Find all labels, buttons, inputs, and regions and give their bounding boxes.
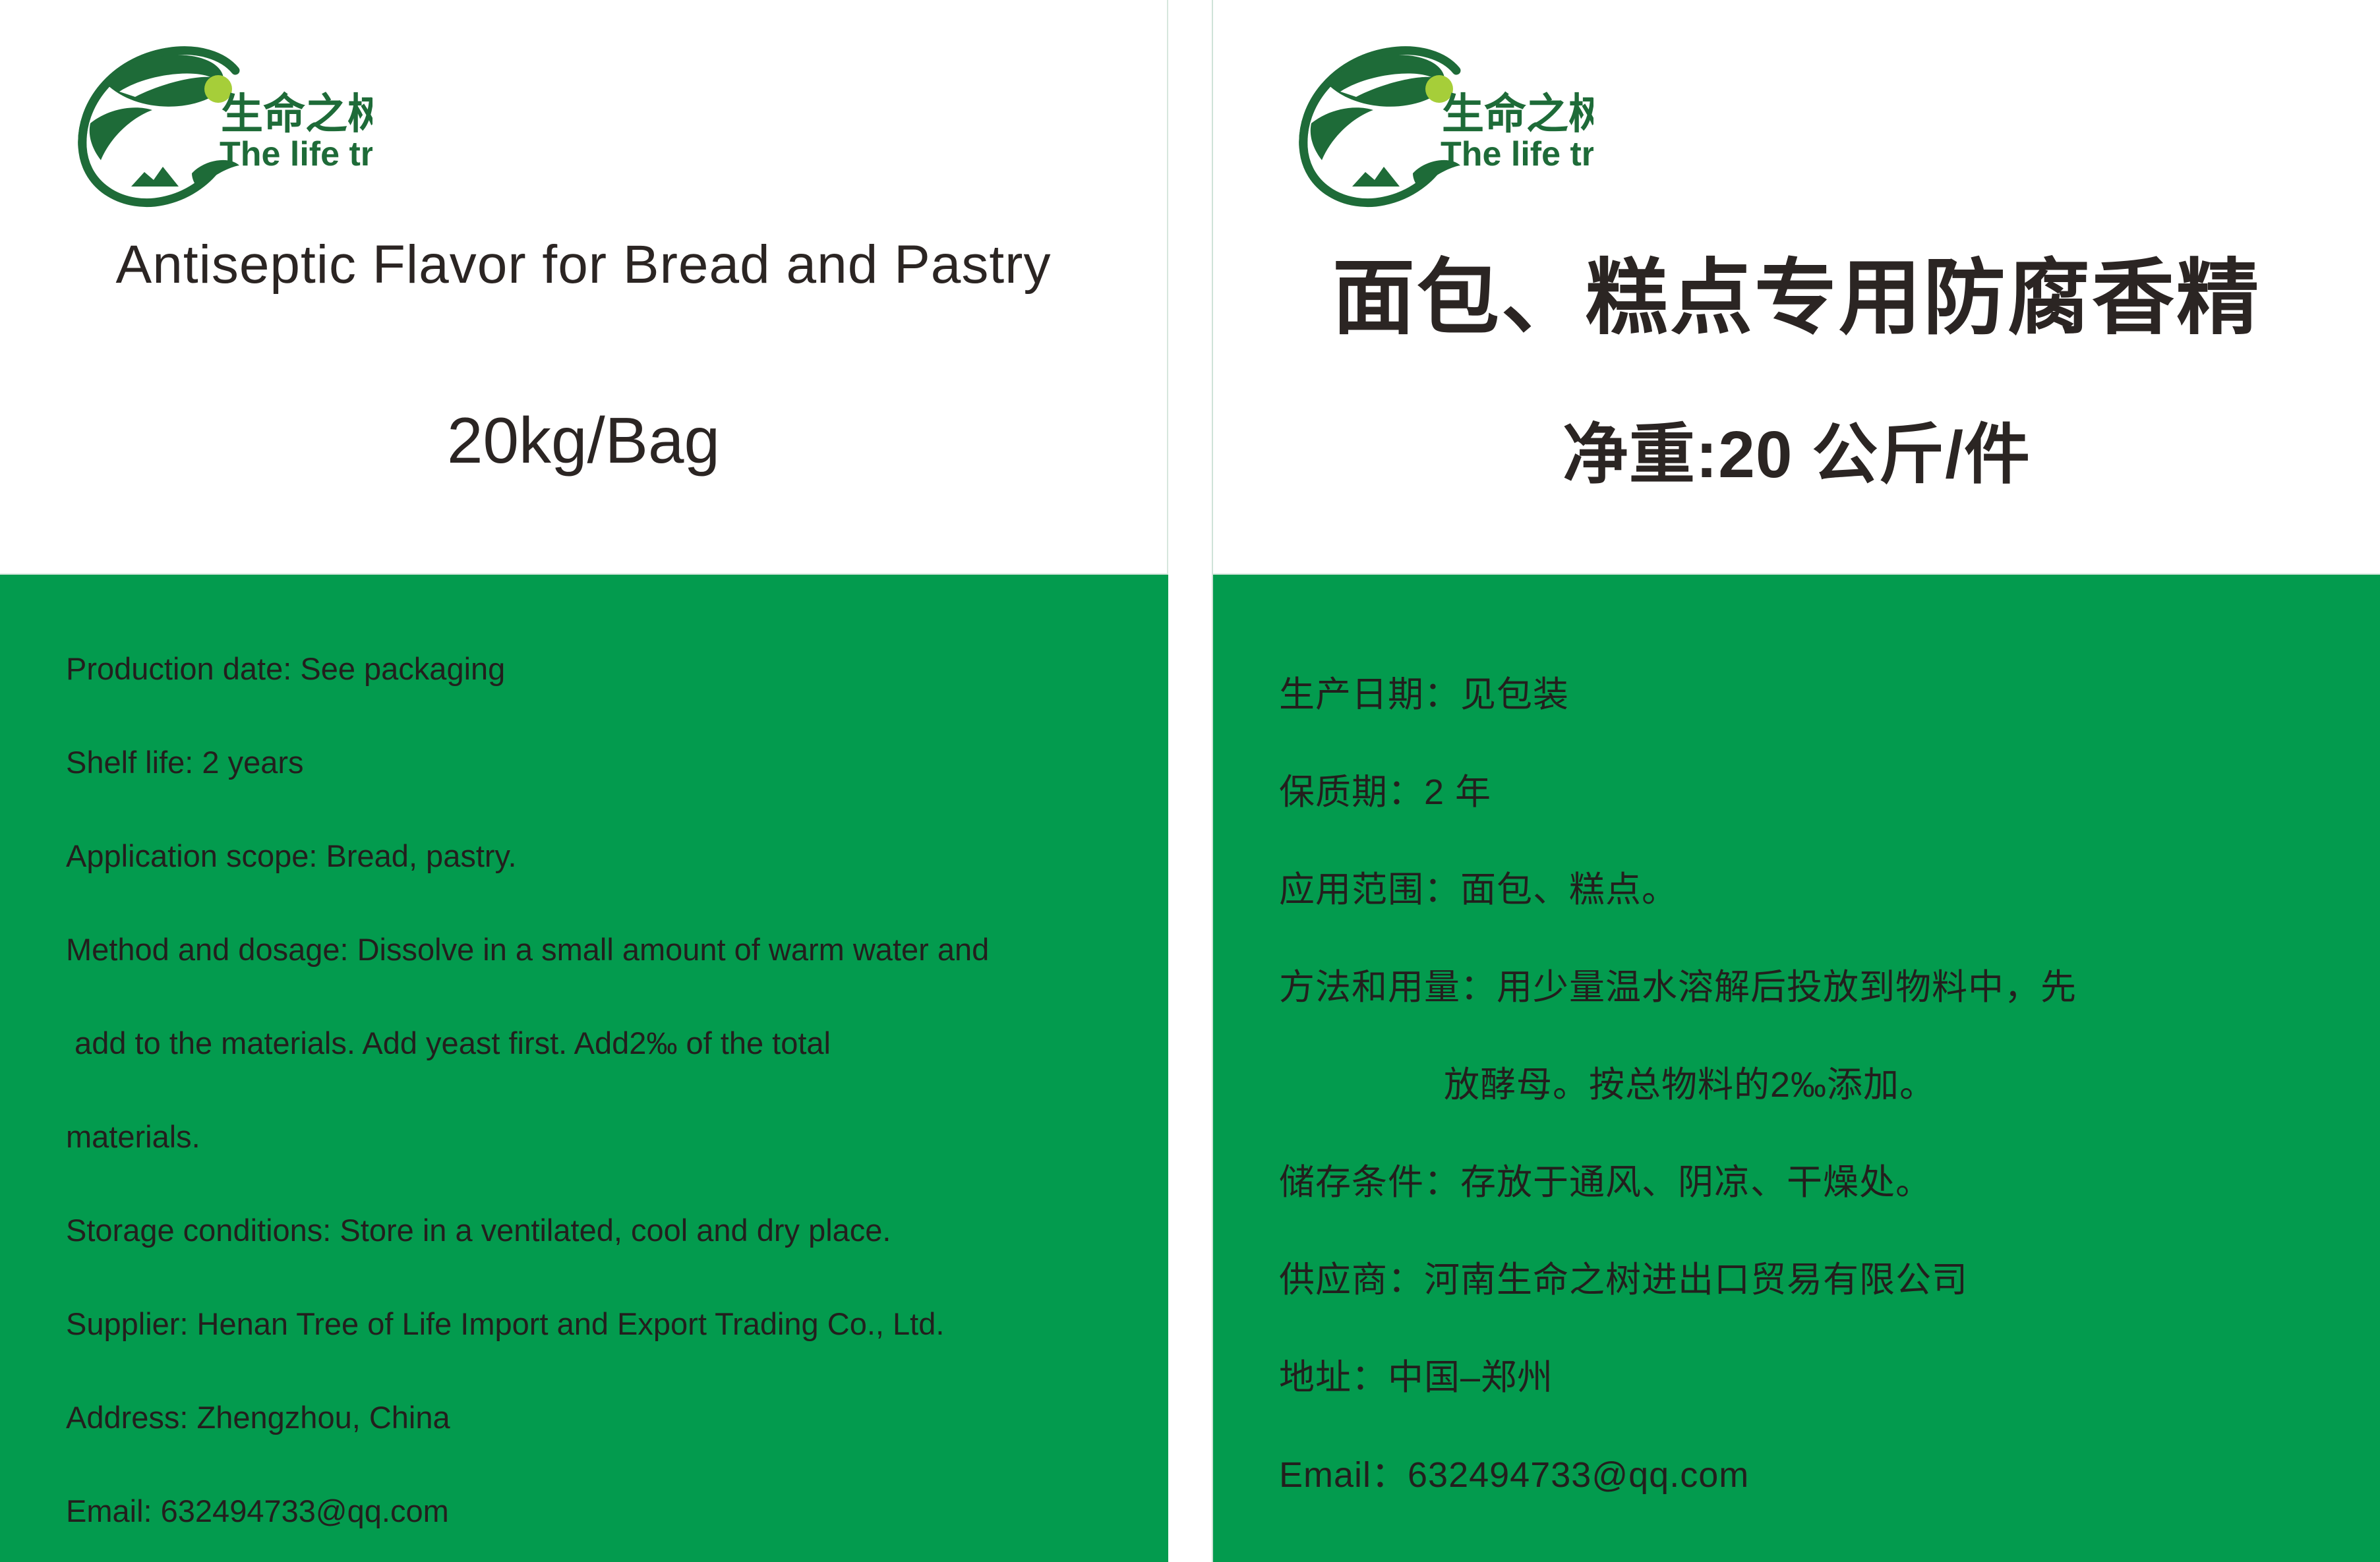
- info-line: Storage conditions: Store in a ventilate…: [66, 1184, 1142, 1277]
- english-product-title: Antiseptic Flavor for Bread and Pastry: [0, 234, 1167, 296]
- info-line: Email：632494733@qq.com: [1279, 1426, 2354, 1524]
- logo-cn-text: 生命之树: [1442, 90, 1593, 139]
- product-label-sheet: 生命之树 The life tree Antiseptic Flavor for…: [0, 0, 2380, 1562]
- info-line: Supplier: Henan Tree of Life Import and …: [66, 1277, 1142, 1371]
- english-header-section: 生命之树 The life tree Antiseptic Flavor for…: [0, 0, 1168, 575]
- info-line: 储存条件：存放于通风、阴凉、干燥处。: [1279, 1134, 2354, 1231]
- info-line: 生产日期：见包装: [1279, 646, 2354, 743]
- info-line: Method and dosage: Dissolve in a small a…: [66, 903, 1142, 997]
- brand-logo: 生命之树 The life tree: [63, 36, 372, 208]
- info-line: Email: 632494733@qq.com: [66, 1464, 1142, 1558]
- chinese-net-weight: 净重:20 公斤/件: [1213, 401, 2380, 496]
- info-line: 供应商：河南生命之树进出口贸易有限公司: [1279, 1231, 2354, 1329]
- logo-en-text: The life tree: [220, 135, 372, 173]
- logo-cn-text: 生命之树: [221, 90, 372, 139]
- logo-en-text: The life tree: [1441, 135, 1593, 173]
- info-line: add to the materials. Add yeast first. A…: [66, 997, 1142, 1090]
- chinese-header-section: 生命之树 The life tree 面包、糕点专用防腐香精 净重:20 公斤/…: [1213, 0, 2380, 575]
- tree-logo-icon: 生命之树 The life tree: [1284, 36, 1593, 208]
- brand-logo: 生命之树 The life tree: [1284, 36, 1593, 208]
- tree-logo-icon: 生命之树 The life tree: [63, 36, 372, 208]
- info-line: 应用范围：面包、糕点。: [1279, 841, 2354, 939]
- chinese-info-section: 生产日期：见包装 保质期：2 年 应用范围：面包、糕点。 方法和用量：用少量温水…: [1213, 575, 2380, 1562]
- info-line: Production date: See packaging: [66, 622, 1142, 716]
- english-label-panel: 生命之树 The life tree Antiseptic Flavor for…: [0, 0, 1168, 1562]
- info-line: Application scope: Bread, pastry.: [66, 809, 1142, 903]
- chinese-product-title: 面包、糕点专用防腐香精: [1213, 231, 2380, 350]
- english-net-weight: 20kg/Bag: [0, 403, 1167, 478]
- info-line: materials.: [66, 1090, 1142, 1184]
- info-line: 方法和用量：用少量温水溶解后投放到物料中，先: [1279, 939, 2354, 1036]
- info-line: Shelf life: 2 years: [66, 716, 1142, 809]
- english-info-section: Production date: See packaging Shelf lif…: [0, 575, 1168, 1562]
- info-line: 保质期：2 年: [1279, 743, 2354, 841]
- chinese-label-panel: 生命之树 The life tree 面包、糕点专用防腐香精 净重:20 公斤/…: [1212, 0, 2380, 1562]
- info-line: 放酵母。按总物料的2‰添加。: [1279, 1036, 2354, 1134]
- info-line: 地址：中国–郑州: [1279, 1329, 2354, 1426]
- chinese-info-list: 生产日期：见包装 保质期：2 年 应用范围：面包、糕点。 方法和用量：用少量温水…: [1279, 646, 2354, 1524]
- info-line: Address: Zhengzhou, China: [66, 1371, 1142, 1464]
- english-info-list: Production date: See packaging Shelf lif…: [66, 622, 1142, 1558]
